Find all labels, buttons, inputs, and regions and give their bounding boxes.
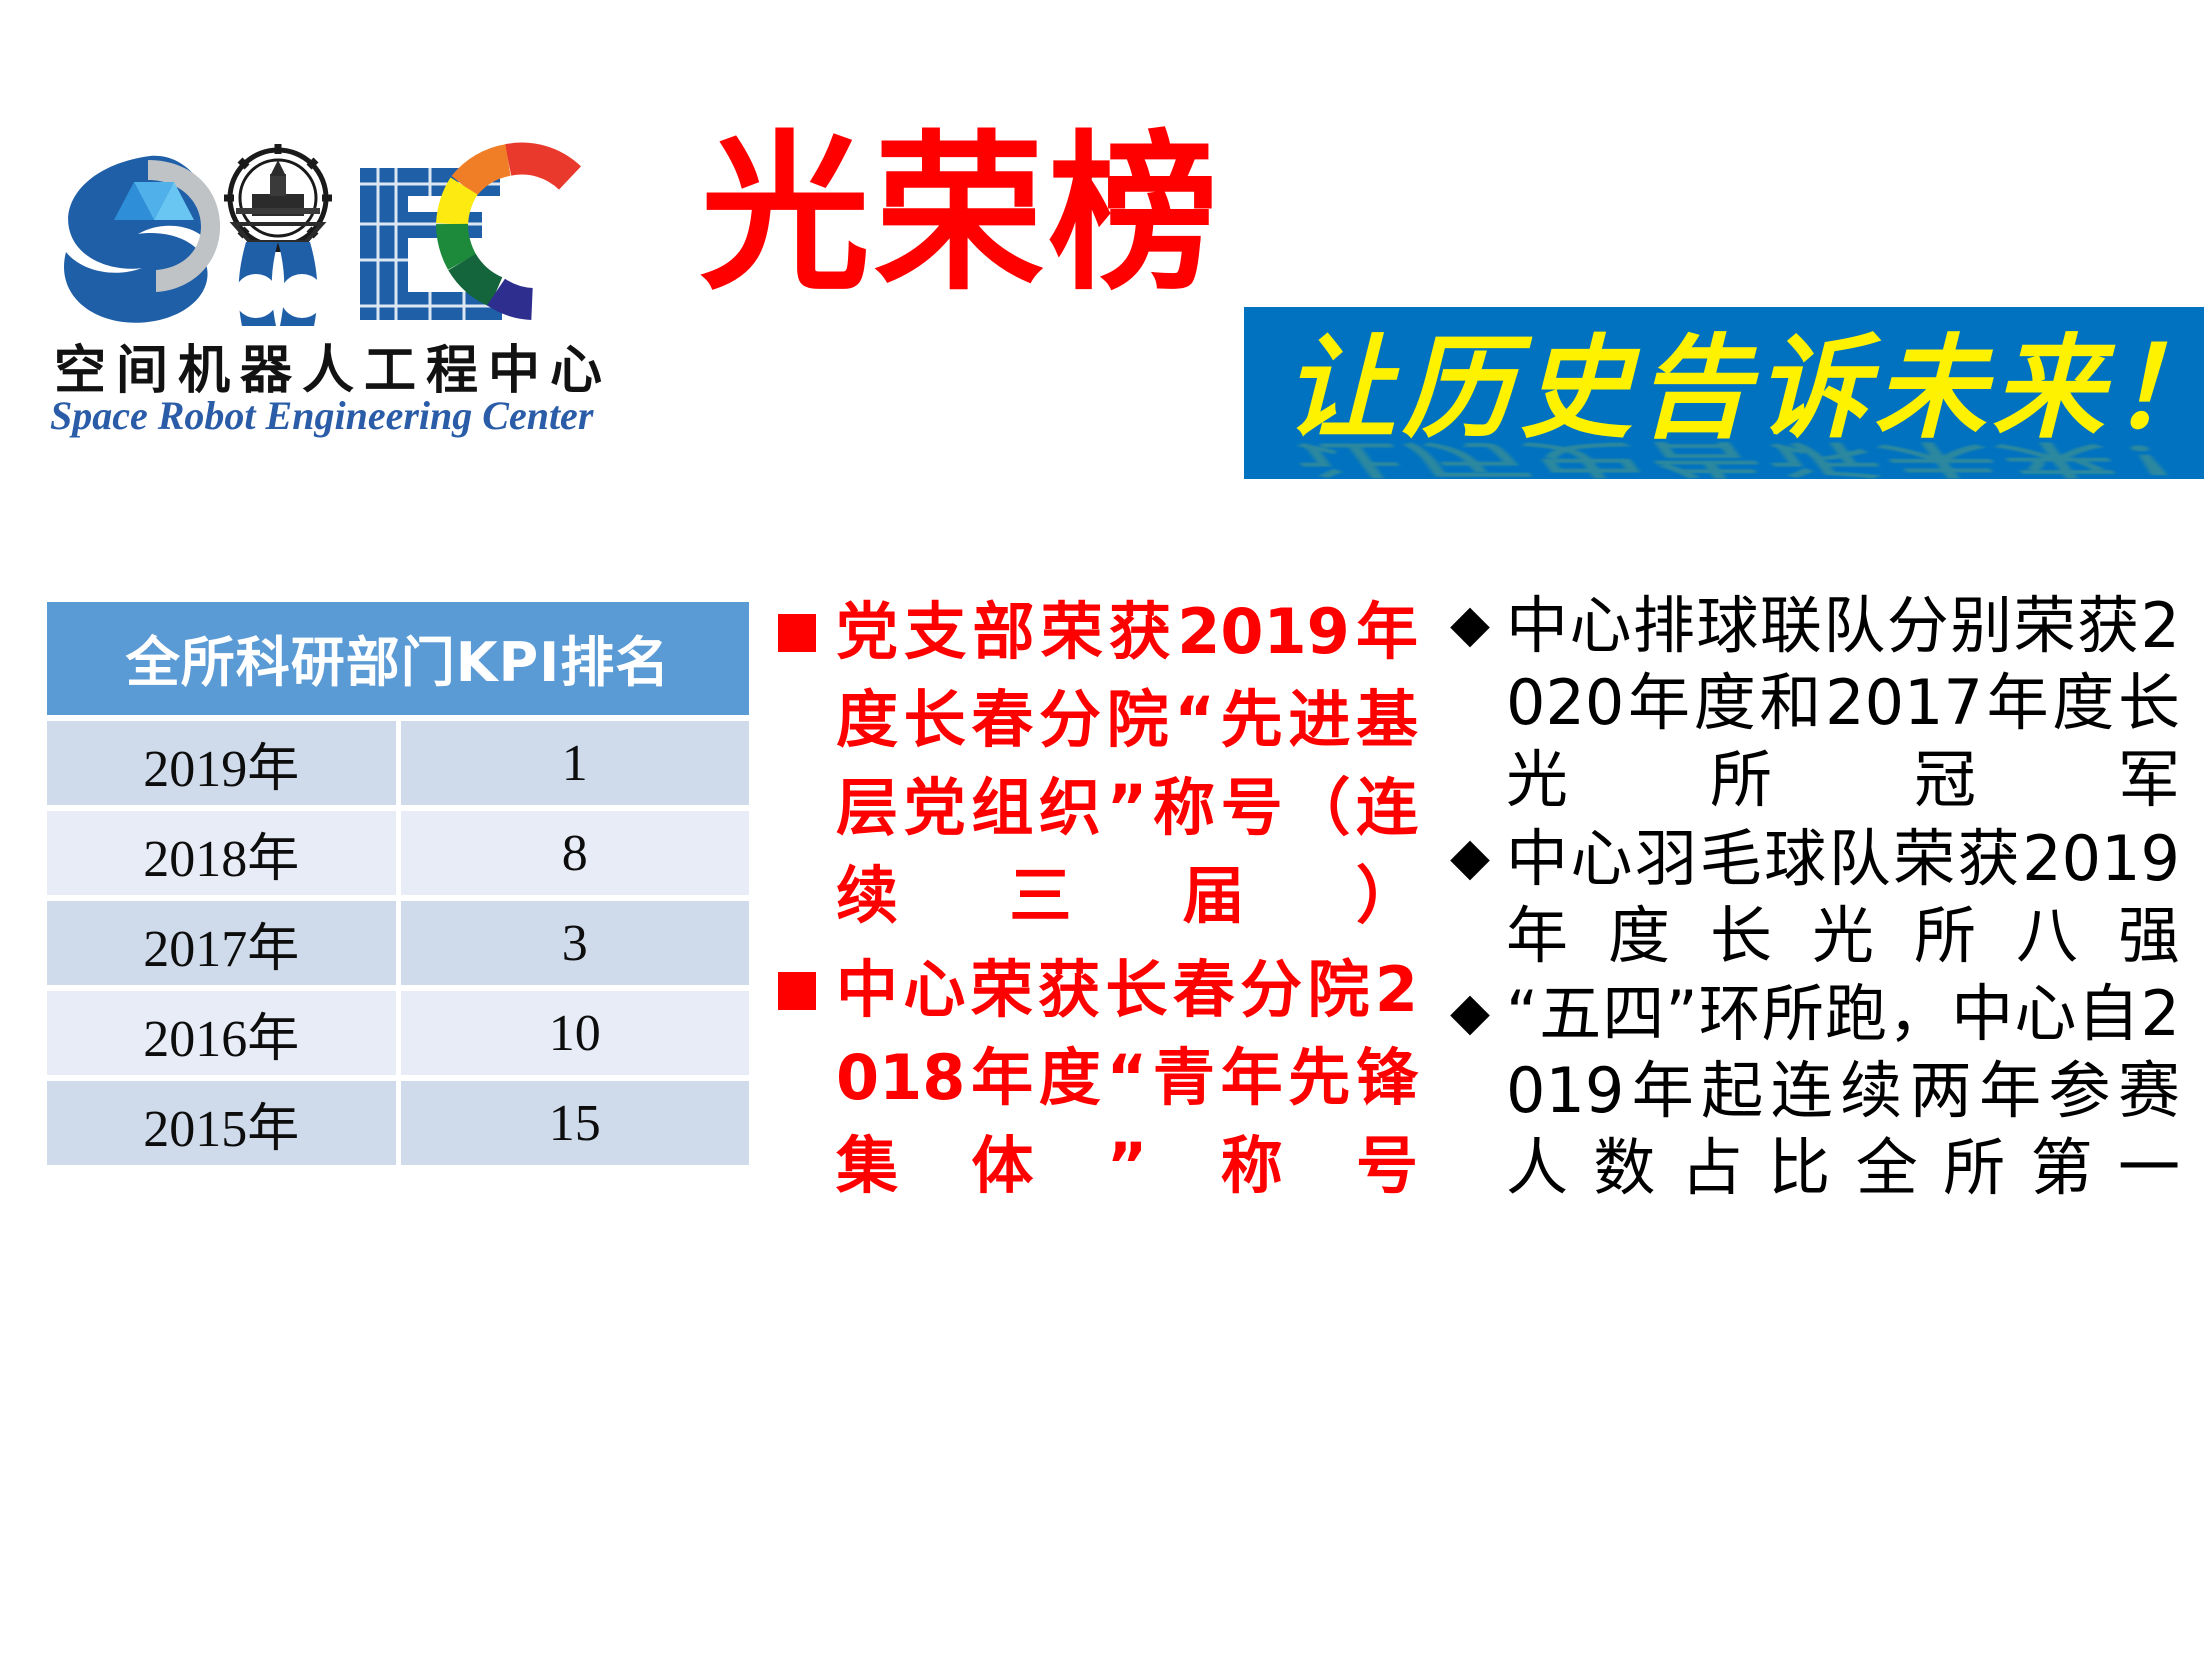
- table-row: 2019年 1: [47, 721, 749, 805]
- cell-rank: 1: [401, 721, 750, 805]
- table-row: 2018年 8: [47, 811, 749, 895]
- table-row: 2016年 10: [47, 991, 749, 1075]
- list-item-label: 中心羽毛球队荣获2019年度长光所八强: [1506, 821, 2180, 975]
- diamond-bullet-icon: ◆: [1450, 831, 1490, 883]
- list-item-label: “五四”环所跑，中心自2019年起连续两年参赛人数占比全所第一: [1506, 976, 2180, 1207]
- list-item-label: 中心荣获长春分院2018年度“青年先锋集体”称号: [836, 946, 1418, 1210]
- cell-rank: 8: [401, 811, 750, 895]
- list-item-label: 党支部荣获2019年度长春分院“先进基层党组织”称号（连续三届）: [836, 588, 1418, 940]
- list-item: 党支部荣获2019年度长春分院“先进基层党组织”称号（连续三届）: [778, 588, 1418, 940]
- table-header-row: 全所科研部门KPI排名: [47, 602, 749, 715]
- slogan-banner: 让历史告诉未来！ 让历史告诉未来！: [1244, 307, 2204, 479]
- cell-year: 2016年: [47, 991, 396, 1075]
- slogan-text: 让历史告诉未来！: [1284, 321, 2204, 458]
- party-honors-list: 党支部荣获2019年度长春分院“先进基层党组织”称号（连续三届） 中心荣获长春分…: [778, 588, 1418, 1216]
- cell-year: 2017年: [47, 901, 396, 985]
- organization-logo: 空间机器人工程中心 Space Robot Engineering Center: [30, 120, 590, 440]
- list-item-label: 中心排球联队分别荣获2020年度和2017年度长光所冠军: [1506, 588, 2180, 819]
- table-row: 2015年 15: [47, 1081, 749, 1165]
- cell-rank: 3: [401, 901, 750, 985]
- cell-year: 2018年: [47, 811, 396, 895]
- square-bullet-icon: [778, 972, 816, 1010]
- list-item: 中心荣获长春分院2018年度“青年先锋集体”称号: [778, 946, 1418, 1210]
- cell-rank: 10: [401, 991, 750, 1075]
- diamond-bullet-icon: ◆: [1450, 598, 1490, 650]
- cell-year: 2019年: [47, 721, 396, 805]
- square-bullet-icon: [778, 614, 816, 652]
- sports-honors-list: ◆ 中心排球联队分别荣获2020年度和2017年度长光所冠军 ◆ 中心羽毛球队荣…: [1450, 588, 2180, 1209]
- kpi-ranking-table: 全所科研部门KPI排名 2019年 1 2018年 8 2017年 3 2016…: [42, 596, 754, 1171]
- diamond-bullet-icon: ◆: [1450, 986, 1490, 1038]
- logo-english-name: Space Robot Engineering Center: [50, 392, 610, 439]
- list-item: ◆ 中心排球联队分别荣获2020年度和2017年度长光所冠军: [1450, 588, 2180, 819]
- list-item: ◆ “五四”环所跑，中心自2019年起连续两年参赛人数占比全所第一: [1450, 976, 2180, 1207]
- page-title: 光荣榜: [700, 130, 1222, 300]
- table-header-title: 全所科研部门KPI排名: [47, 602, 749, 715]
- table-row: 2017年 3: [47, 901, 749, 985]
- srec-logo-mark: [30, 120, 590, 340]
- cell-rank: 15: [401, 1081, 750, 1165]
- cell-year: 2015年: [47, 1081, 396, 1165]
- list-item: ◆ 中心羽毛球队荣获2019年度长光所八强: [1450, 821, 2180, 975]
